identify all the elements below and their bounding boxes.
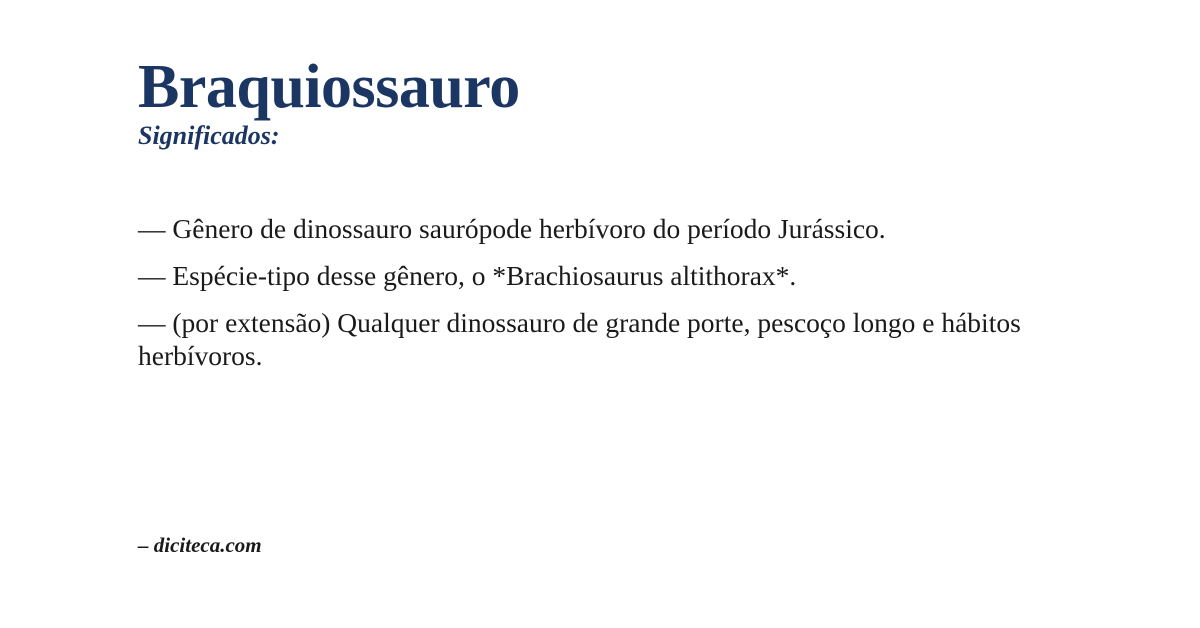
card-header: Braquiossauro Significados: — [138, 56, 1070, 151]
card-footer: – diciteca.com — [138, 533, 262, 558]
definition-item: — Gênero de dinossauro saurópode herbívo… — [138, 212, 1072, 245]
section-label-meanings: Significados: — [138, 122, 1070, 151]
definition-item: — Espécie-tipo desse gênero, o *Brachios… — [138, 259, 1072, 292]
source-attribution: – diciteca.com — [138, 533, 262, 558]
definition-card: Braquiossauro Significados: — Gênero de … — [0, 0, 1200, 628]
page-title: Braquiossauro — [138, 56, 1070, 119]
definitions-list: — Gênero de dinossauro saurópode herbívo… — [138, 212, 1072, 372]
definition-item: — (por extensão) Qualquer dinossauro de … — [138, 306, 1072, 372]
